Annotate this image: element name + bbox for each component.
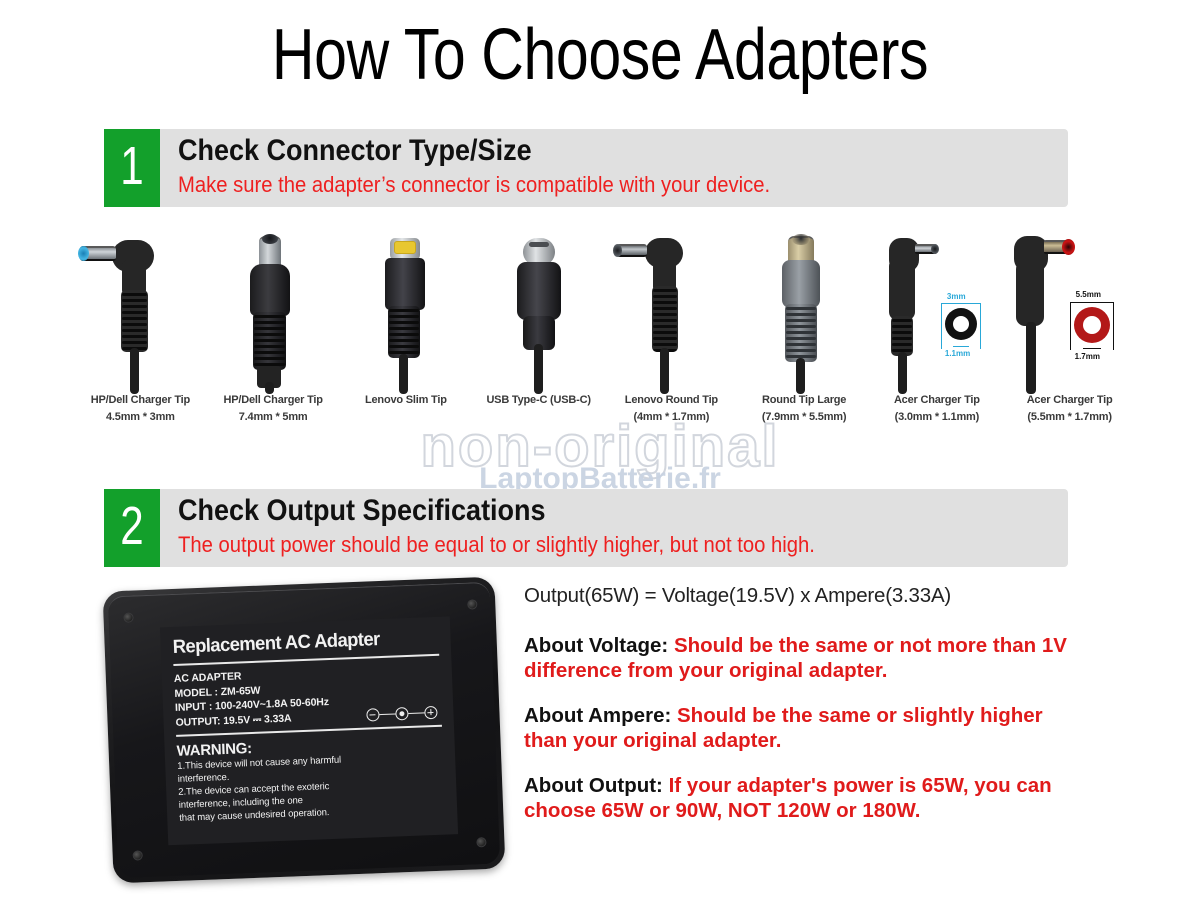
acer-30-dimension-diagram: 3mm 1.1mm: [933, 292, 997, 368]
label-title: Replacement AC Adapter: [172, 627, 431, 659]
step-2-header: 2 Check Output Specifications The output…: [104, 489, 1068, 567]
ac-adapter-photo: Replacement AC Adapter AC ADAPTER MODEL …: [100, 572, 520, 890]
connector-name: Acer Charger Tip: [1027, 394, 1113, 406]
about-ampere-label: About Ampere:: [524, 704, 671, 727]
about-output-label: About Output:: [524, 774, 663, 797]
connector-name: Lenovo Slim Tip: [365, 394, 447, 406]
adapter-body: Replacement AC Adapter AC ADAPTER MODEL …: [103, 577, 506, 884]
cable-strain-relief: [121, 290, 148, 352]
polarity-center-icon: [395, 707, 408, 720]
connector-name: Round Tip Large: [762, 394, 846, 406]
polarity-plus-icon: [424, 706, 437, 719]
polarity-bar-right: [408, 712, 424, 714]
connector-item-round-large[interactable]: Round Tip Large (7.9mm * 5.5mm): [738, 232, 871, 442]
connector-item-usb-c[interactable]: USB Type-C (USB-C): [472, 232, 605, 442]
step-2-text-group: Check Output Specifications The output p…: [160, 489, 870, 567]
acer-30-icon: 3mm 1.1mm: [871, 232, 1003, 392]
lenovo-slim-icon: [340, 232, 472, 392]
connector-name: Acer Charger Tip: [894, 394, 980, 406]
output-formula: Output(65W) = Voltage(19.5V) x Ampere(3.…: [524, 584, 1084, 608]
connector-size: 7.4mm * 5mm: [223, 409, 322, 426]
connector-size: (3.0mm * 1.1mm): [894, 409, 980, 426]
usb-c-icon: [473, 232, 605, 392]
label-output: OUTPUT: 19.5V ⎓ 3.33A: [175, 711, 291, 730]
connector-label: HP/Dell Charger Tip 4.5mm * 3mm: [91, 392, 190, 426]
connector-item-hp-dell-45[interactable]: HP/Dell Charger Tip 4.5mm * 3mm: [74, 232, 207, 442]
connector-gallery: HP/Dell Charger Tip 4.5mm * 3mm HP/Dell …: [74, 232, 1136, 442]
lenovo-round-icon: [605, 232, 737, 392]
connector-label: Acer Charger Tip (3.0mm * 1.1mm): [894, 392, 980, 426]
about-output-line: About Output: If your adapter's power is…: [524, 773, 1084, 823]
yellow-tip: [394, 241, 416, 254]
acer-55-outer-dim: 5.5mm: [1076, 290, 1101, 299]
connector-size: (5.5mm * 1.7mm): [1027, 409, 1113, 426]
connector-item-lenovo-slim[interactable]: Lenovo Slim Tip: [340, 232, 473, 442]
step-2-number: 2: [120, 499, 143, 557]
step-1-title: Check Connector Type/Size: [178, 133, 757, 169]
step-1-subtitle: Make sure the adapter’s connector is com…: [178, 170, 770, 200]
page-title: How To Choose Adapters: [108, 12, 1092, 98]
connector-item-lenovo-round[interactable]: Lenovo Round Tip (4mm * 1.7mm): [605, 232, 738, 442]
connector-label: Round Tip Large (7.9mm * 5.5mm): [762, 392, 846, 426]
connector-name: HP/Dell Charger Tip: [223, 394, 322, 406]
acer-30-outer-dim: 3mm: [947, 292, 966, 301]
connector-size: (4mm * 1.7mm): [625, 409, 718, 426]
acer-55-dimension-diagram: 5.5mm 1.7mm: [1062, 290, 1132, 372]
hp-dell-45-icon: [74, 232, 206, 392]
connector-label: Lenovo Round Tip (4mm * 1.7mm): [625, 392, 718, 426]
step-2-title: Check Output Specifications: [178, 493, 801, 529]
connector-item-acer-55[interactable]: 5.5mm 1.7mm Acer Charger Tip (5.5mm * 1.…: [1003, 232, 1136, 442]
about-voltage-line: About Voltage: Should be the same or not…: [524, 633, 1084, 683]
polarity-symbol: [366, 706, 437, 722]
adapter-spec-label: Replacement AC Adapter AC ADAPTER MODEL …: [160, 616, 458, 845]
step-2-number-badge: 2: [104, 489, 160, 567]
connector-label: Acer Charger Tip (5.5mm * 1.7mm): [1027, 392, 1113, 426]
connector-size: 4.5mm * 3mm: [91, 409, 190, 426]
step-1-number: 1: [120, 139, 143, 197]
connector-label: USB Type-C (USB-C): [486, 392, 590, 409]
polarity-bar-left: [379, 714, 395, 716]
connector-name: USB Type-C (USB-C): [486, 394, 590, 406]
round-large-icon: [738, 232, 870, 392]
step-1-text-group: Check Connector Type/Size Make sure the …: [160, 129, 822, 207]
acer-55-inner-dim: 1.7mm: [1075, 352, 1100, 361]
acer-55-icon: 5.5mm 1.7mm: [1004, 232, 1136, 392]
step-2-subtitle: The output power should be equal to or s…: [178, 530, 815, 560]
about-voltage-label: About Voltage:: [524, 634, 668, 657]
infographic-page: How To Choose Adapters 1 Check Connector…: [0, 0, 1200, 900]
connector-item-acer-30[interactable]: 3mm 1.1mm Acer Charger Tip (3.0mm * 1.1m…: [871, 232, 1004, 442]
connector-name: HP/Dell Charger Tip: [91, 394, 190, 406]
connector-label: Lenovo Slim Tip: [365, 392, 447, 409]
connector-item-hp-dell-74[interactable]: HP/Dell Charger Tip 7.4mm * 5mm: [207, 232, 340, 442]
connector-size: (7.9mm * 5.5mm): [762, 409, 846, 426]
connector-label: HP/Dell Charger Tip 7.4mm * 5mm: [223, 392, 322, 426]
about-ampere-line: About Ampere: Should be the same or slig…: [524, 703, 1084, 753]
acer-30-inner-dim: 1.1mm: [945, 349, 970, 358]
step-1-header: 1 Check Connector Type/Size Make sure th…: [104, 129, 1068, 207]
hp-dell-74-icon: [207, 232, 339, 392]
connector-name: Lenovo Round Tip: [625, 394, 718, 406]
polarity-minus-icon: [366, 708, 379, 721]
step-1-number-badge: 1: [104, 129, 160, 207]
output-guidance-panel: Output(65W) = Voltage(19.5V) x Ampere(3.…: [524, 584, 1084, 843]
